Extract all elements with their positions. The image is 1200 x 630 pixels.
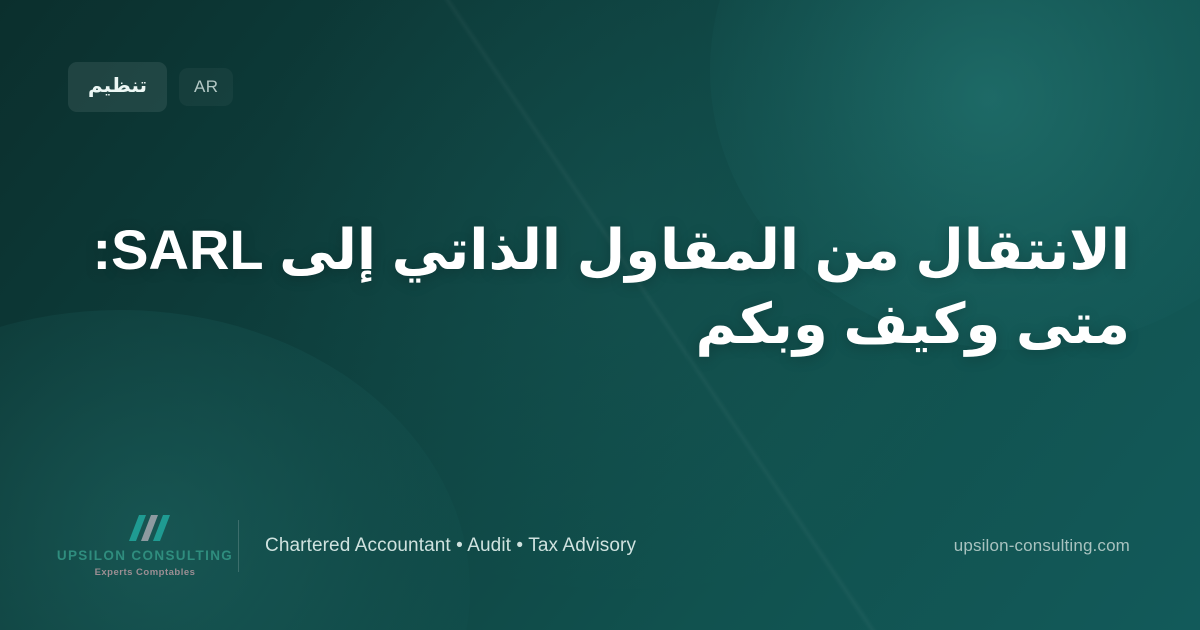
upsilon-slashes-icon: [115, 515, 175, 546]
brand-logo[interactable]: UPSILON CONSULTING Experts Comptables: [70, 515, 220, 577]
services-tagline: Chartered Accountant • Audit • Tax Advis…: [265, 535, 636, 557]
page-title: الانتقال من المقاول الذاتي إلى SARL: متى…: [70, 213, 1130, 362]
social-share-card: تنظيم AR الانتقال من المقاول الذاتي إلى …: [0, 0, 1200, 630]
footer-divider: [238, 520, 239, 572]
language-badge[interactable]: AR: [179, 68, 233, 106]
footer-brand-group: UPSILON CONSULTING Experts Comptables Ch…: [70, 515, 636, 577]
brand-subtitle: Experts Comptables: [95, 568, 196, 578]
category-badge[interactable]: تنظيم: [68, 62, 167, 112]
badge-group: تنظيم AR: [68, 62, 233, 112]
website-url[interactable]: upsilon-consulting.com: [954, 536, 1130, 556]
card-footer: UPSILON CONSULTING Experts Comptables Ch…: [70, 510, 1130, 582]
brand-wordmark: UPSILON CONSULTING: [57, 549, 233, 563]
